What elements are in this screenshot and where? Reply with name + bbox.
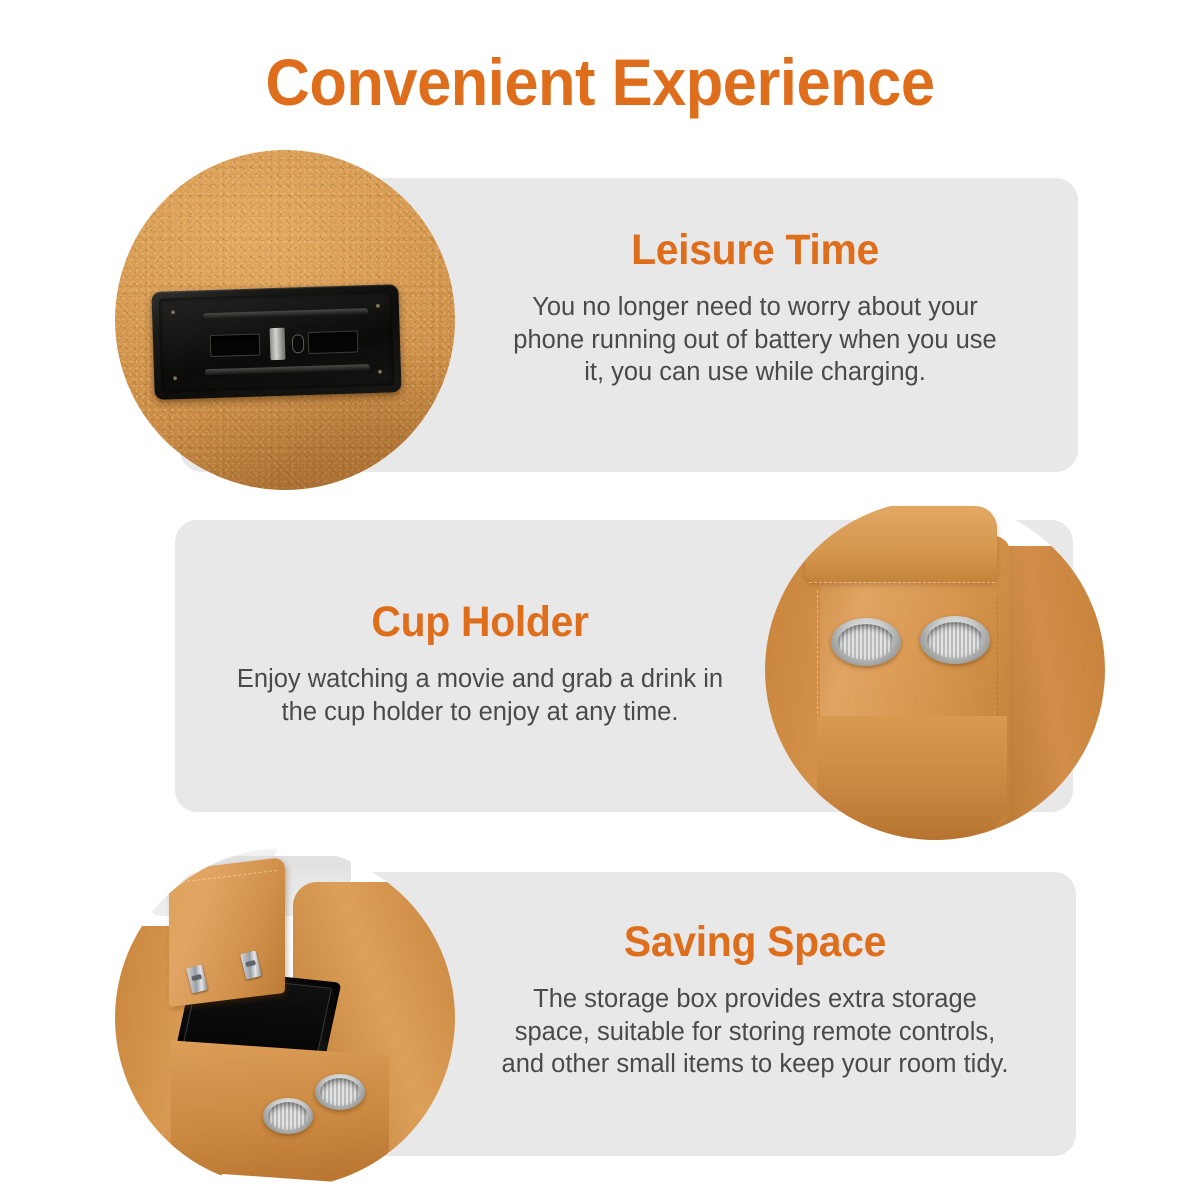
cup-holder-left (831, 618, 901, 666)
sofa-side-right (995, 546, 1105, 840)
infographic-page: Convenient Experience Leisure Time You n… (0, 0, 1200, 1200)
usb-panel-bar-top (203, 308, 368, 319)
hinge-pin (191, 974, 202, 981)
usb-a-port-left (210, 334, 261, 358)
feature-text-cup-holder: Cup Holder Enjoy watching a movie and gr… (225, 598, 735, 728)
page-title: Convenient Experience (42, 44, 1158, 120)
hinge-pin (245, 960, 256, 967)
usb-panel-inner (159, 291, 395, 392)
cup-holder-insert (268, 1102, 308, 1130)
armrest-lower-panel (817, 716, 1007, 840)
panel-screw (376, 304, 380, 308)
usb-charging-port-photo (115, 150, 455, 490)
storage-box-console-photo (115, 848, 455, 1188)
usb-a-port-right (308, 330, 359, 354)
cup-holder-insert (320, 1078, 360, 1106)
feature-text-leisure-time: Leisure Time You no longer need to worry… (500, 226, 1010, 389)
usb-c-housing (270, 328, 286, 360)
storage-box-lid (169, 857, 285, 1007)
armrest-headrest-cushion (805, 506, 997, 582)
cup-holder-armrest-photo (765, 500, 1105, 840)
feature-title-leisure-time: Leisure Time (513, 226, 998, 275)
feature-text-saving-space: Saving Space The storage box provides ex… (500, 918, 1010, 1081)
feature-body-cup-holder: Enjoy watching a movie and grab a drink … (225, 663, 735, 728)
cup-holder-front-left (263, 1098, 313, 1134)
feature-body-saving-space: The storage box provides extra storage s… (500, 983, 1010, 1081)
cup-holder-front-right (315, 1074, 365, 1110)
usb-panel (151, 284, 401, 400)
panel-screw (171, 310, 175, 314)
stitch-seam (809, 582, 995, 583)
usb-panel-bar-bottom (205, 364, 370, 375)
panel-screw (378, 370, 382, 374)
feature-title-saving-space: Saving Space (513, 918, 998, 967)
feature-title-cup-holder: Cup Holder (238, 598, 723, 647)
cup-holder-insert (838, 624, 894, 660)
cup-holder-insert (927, 622, 983, 658)
usb-c-port (292, 334, 305, 353)
stitch-seam (177, 870, 277, 883)
cup-holder-right (920, 616, 990, 664)
feature-body-leisure-time: You no longer need to worry about your p… (500, 291, 1010, 389)
panel-screw (173, 376, 177, 380)
